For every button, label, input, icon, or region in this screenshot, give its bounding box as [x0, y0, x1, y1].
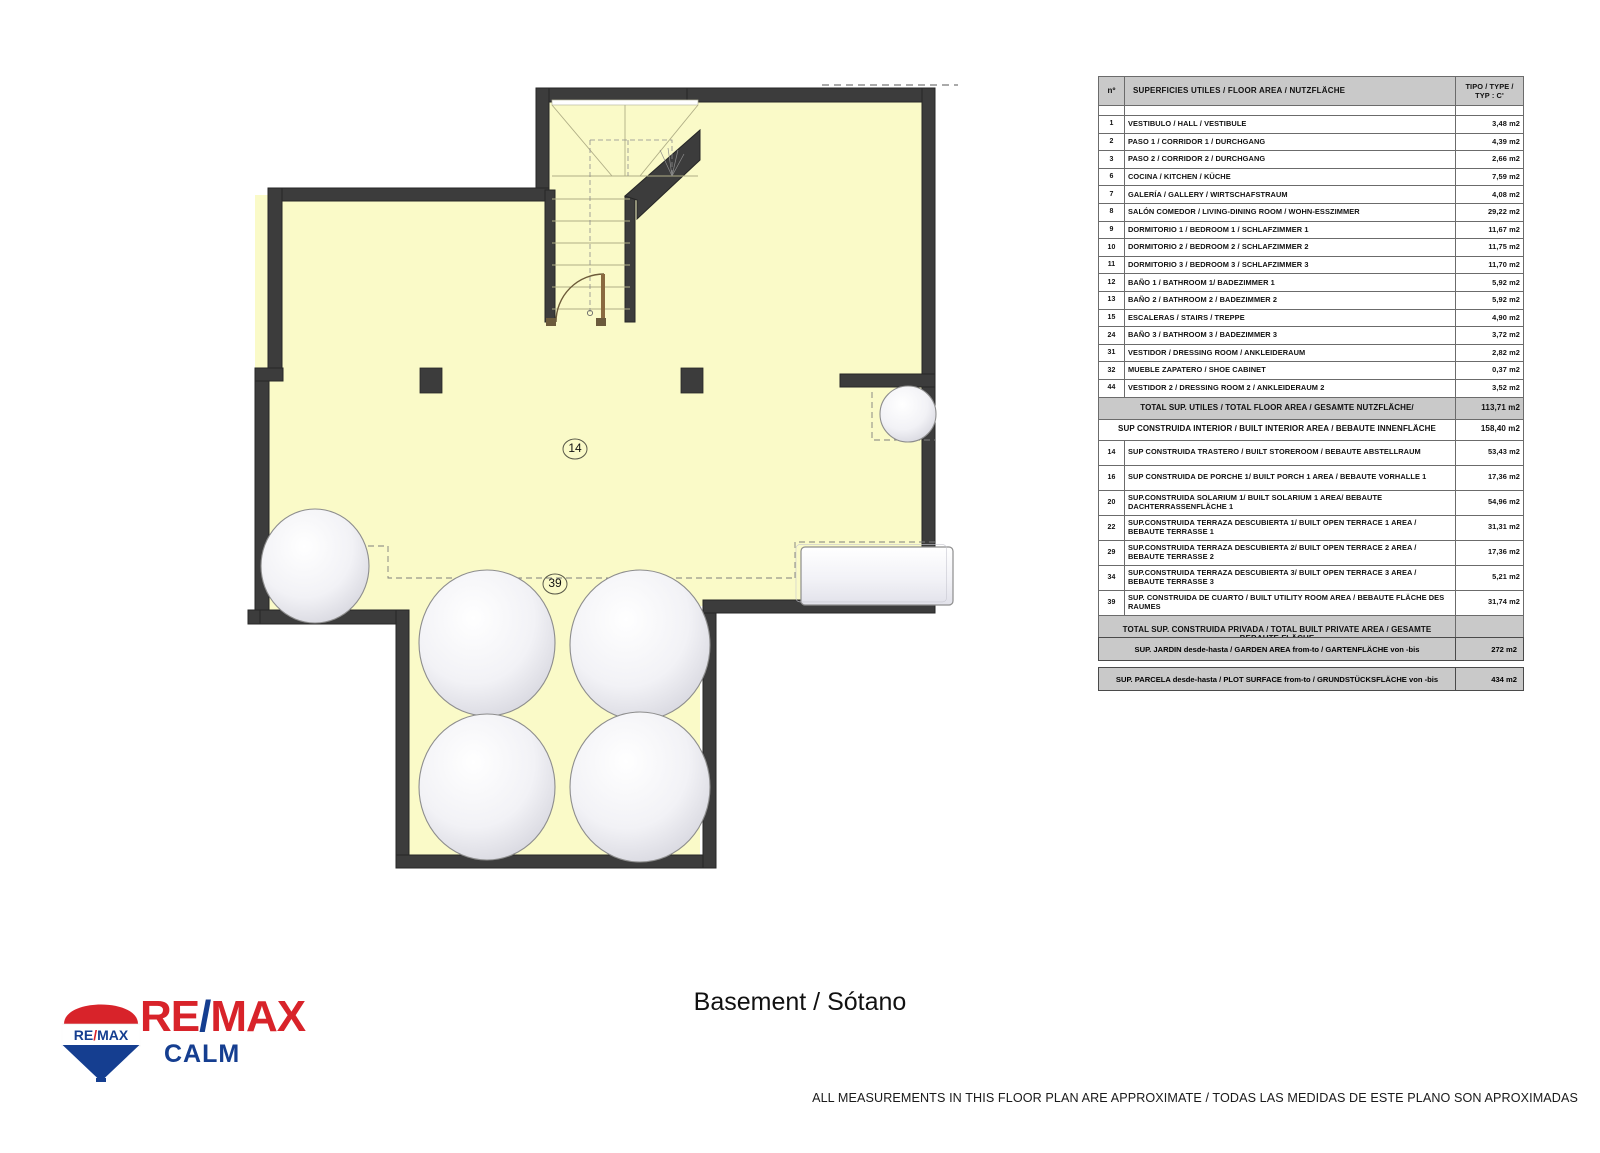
table-row: 10 DORMITORIO 2 / BEDROOM 2 / SCHLAFZIMM… — [1099, 239, 1524, 257]
disclaimer-text: ALL MEASUREMENTS IN THIS FLOOR PLAN ARE … — [812, 1091, 1578, 1105]
table-row: 3 PASO 2 / CORRIDOR 2 / DURCHGANG 2,66 m… — [1099, 151, 1524, 169]
built-interior-label: SUP CONSTRUIDA INTERIOR / BUILT INTERIOR… — [1099, 419, 1456, 440]
fixture-circle-39-a — [419, 570, 555, 716]
garden-label: SUP. JARDIN desde-hasta / GARDEN AREA fr… — [1099, 638, 1456, 661]
plot-area: 434 m2 — [1456, 668, 1524, 691]
row-num: 16 — [1099, 465, 1125, 490]
table-row: 24 BAÑO 3 / BATHROOM 3 / BADEZIMMER 3 3,… — [1099, 327, 1524, 345]
balloon-blue-bottom — [62, 1045, 140, 1082]
fixture-rect-right — [801, 547, 953, 605]
table-row: 2 PASO 1 / CORRIDOR 1 / DURCHGANG 4,39 m… — [1099, 133, 1524, 151]
row-num: 32 — [1099, 362, 1125, 380]
row-desc: BAÑO 3 / BATHROOM 3 / BADEZIMMER 3 — [1125, 327, 1456, 345]
plot-surface-row: SUP. PARCELA desde-hasta / PLOT SURFACE … — [1098, 667, 1524, 691]
room-tag-39-label: 39 — [540, 576, 570, 590]
total-useful-label: TOTAL SUP. UTILES / TOTAL FLOOR AREA / G… — [1099, 397, 1456, 419]
row-area: 3,52 m2 — [1456, 379, 1524, 397]
row-area: 11,75 m2 — [1456, 239, 1524, 257]
row-area: 53,43 m2 — [1456, 440, 1524, 465]
legend-spacer — [1099, 106, 1524, 116]
table-row: 39 SUP. CONSTRUIDA DE CUARTO / BUILT UTI… — [1099, 590, 1524, 615]
table-row: 15 ESCALERAS / STAIRS / TREPPE 4,90 m2 — [1099, 309, 1524, 327]
row-desc: SUP.CONSTRUIDA TERRAZA DESCUBIERTA 2/ BU… — [1125, 540, 1456, 565]
table-row: 11 DORMITORIO 3 / BEDROOM 3 / SCHLAFZIMM… — [1099, 256, 1524, 274]
row-area: 2,82 m2 — [1456, 344, 1524, 362]
row-num: 12 — [1099, 274, 1125, 292]
row-desc: SUP.CONSTRUIDA SOLARIUM 1/ BUILT SOLARIU… — [1125, 490, 1456, 515]
room-tag-14-label: 14 — [560, 441, 590, 455]
legend-header-desc: SUPERFICIES UTILES / FLOOR AREA / NUTZFL… — [1125, 77, 1456, 106]
row-num: 3 — [1099, 151, 1125, 169]
table-row: 12 BAÑO 1 / BATHROOM 1/ BADEZIMMER 1 5,9… — [1099, 274, 1524, 292]
row-area: 5,92 m2 — [1456, 274, 1524, 292]
row-desc: SALÓN COMEDOR / LIVING-DINING ROOM / WOH… — [1125, 203, 1456, 221]
legend-header-row: nº SUPERFICIES UTILES / FLOOR AREA / NUT… — [1099, 77, 1524, 106]
table-row: 20 SUP.CONSTRUIDA SOLARIUM 1/ BUILT SOLA… — [1099, 490, 1524, 515]
floor-area-legend-table: nº SUPERFICIES UTILES / FLOOR AREA / NUT… — [1098, 76, 1524, 656]
fixture-circle-left — [261, 509, 369, 623]
row-desc: VESTIDOR / DRESSING ROOM / ANKLEIDERAUM — [1125, 344, 1456, 362]
row-area: 5,21 m2 — [1456, 565, 1524, 590]
row-area: 11,70 m2 — [1456, 256, 1524, 274]
row-area: 4,39 m2 — [1456, 133, 1524, 151]
table-row: 34 SUP.CONSTRUIDA TERRAZA DESCUBIERTA 3/… — [1099, 565, 1524, 590]
row-num: 14 — [1099, 440, 1125, 465]
row-area: 29,22 m2 — [1456, 203, 1524, 221]
table-row: 14 SUP CONSTRUIDA TRASTERO / BUILT STORE… — [1099, 440, 1524, 465]
row-area: 3,48 m2 — [1456, 116, 1524, 134]
row-desc: COCINA / KITCHEN / KÜCHE — [1125, 168, 1456, 186]
row-num: 2 — [1099, 133, 1125, 151]
row-num: 31 — [1099, 344, 1125, 362]
row-area: 17,36 m2 — [1456, 465, 1524, 490]
row-desc: SUP CONSTRUIDA DE PORCHE 1/ BUILT PORCH … — [1125, 465, 1456, 490]
row-num: 20 — [1099, 490, 1125, 515]
table-row: 22 SUP.CONSTRUIDA TERRAZA DESCUBIERTA 1/… — [1099, 515, 1524, 540]
table-row: 31 VESTIDOR / DRESSING ROOM / ANKLEIDERA… — [1099, 344, 1524, 362]
row-num: 44 — [1099, 379, 1125, 397]
row-num: 15 — [1099, 309, 1125, 327]
row-area: 0,37 m2 — [1456, 362, 1524, 380]
legend-header-num: nº — [1099, 77, 1125, 106]
row-area: 4,90 m2 — [1456, 309, 1524, 327]
row-area: 31,74 m2 — [1456, 590, 1524, 615]
row-area: 7,59 m2 — [1456, 168, 1524, 186]
built-interior-row: SUP CONSTRUIDA INTERIOR / BUILT INTERIOR… — [1099, 419, 1524, 440]
balloon-logo-text: RE/MAX — [74, 1027, 129, 1043]
row-num: 1 — [1099, 116, 1125, 134]
row-desc: SUP.CONSTRUIDA TERRAZA DESCUBIERTA 3/ BU… — [1125, 565, 1456, 590]
row-desc: VESTIBULO / HALL / VESTIBULE — [1125, 116, 1456, 134]
row-num: 9 — [1099, 221, 1125, 239]
room-tag-39: 39 — [540, 573, 570, 598]
page-title: Basement / Sótano — [0, 988, 1600, 1017]
row-num: 39 — [1099, 590, 1125, 615]
row-num: 34 — [1099, 565, 1125, 590]
table-row: 16 SUP CONSTRUIDA DE PORCHE 1/ BUILT POR… — [1099, 465, 1524, 490]
fixture-circle-39-b — [570, 570, 710, 720]
row-desc: DORMITORIO 3 / BEDROOM 3 / SCHLAFZIMMER … — [1125, 256, 1456, 274]
row-desc: SUP.CONSTRUIDA TERRAZA DESCUBIERTA 1/ BU… — [1125, 515, 1456, 540]
row-area: 11,67 m2 — [1456, 221, 1524, 239]
fixture-circle-39-c — [419, 714, 555, 860]
row-desc: SUP. CONSTRUIDA DE CUARTO / BUILT UTILIT… — [1125, 590, 1456, 615]
row-area: 54,96 m2 — [1456, 490, 1524, 515]
table-row: 29 SUP.CONSTRUIDA TERRAZA DESCUBIERTA 2/… — [1099, 540, 1524, 565]
row-desc: VESTIDOR 2 / DRESSING ROOM 2 / ANKLEIDER… — [1125, 379, 1456, 397]
legend-table: nº SUPERFICIES UTILES / FLOOR AREA / NUT… — [1098, 76, 1524, 656]
garden-area-row: SUP. JARDIN desde-hasta / GARDEN AREA fr… — [1098, 637, 1524, 661]
floor-plan-drawing — [0, 0, 1060, 950]
row-num: 10 — [1099, 239, 1125, 257]
row-num: 8 — [1099, 203, 1125, 221]
garden-area: 272 m2 — [1456, 638, 1524, 661]
row-num: 6 — [1099, 168, 1125, 186]
row-area: 4,08 m2 — [1456, 186, 1524, 204]
built-interior-area: 158,40 m2 — [1456, 419, 1524, 440]
row-area: 31,31 m2 — [1456, 515, 1524, 540]
row-area: 2,66 m2 — [1456, 151, 1524, 169]
table-row: 8 SALÓN COMEDOR / LIVING-DINING ROOM / W… — [1099, 203, 1524, 221]
row-num: 13 — [1099, 291, 1125, 309]
table-row: 44 VESTIDOR 2 / DRESSING ROOM 2 / ANKLEI… — [1099, 379, 1524, 397]
row-num: 24 — [1099, 327, 1125, 345]
plot-label: SUP. PARCELA desde-hasta / PLOT SURFACE … — [1099, 668, 1456, 691]
row-desc: MUEBLE ZAPATERO / SHOE CABINET — [1125, 362, 1456, 380]
fixture-circle-top-right — [880, 386, 936, 442]
row-num: 29 — [1099, 540, 1125, 565]
table-row: 6 COCINA / KITCHEN / KÜCHE 7,59 m2 — [1099, 168, 1524, 186]
row-desc: BAÑO 2 / BATHROOM 2 / BADEZIMMER 2 — [1125, 291, 1456, 309]
legend-header-type: TIPO / TYPE / TYP : C' — [1456, 77, 1524, 106]
table-row: 9 DORMITORIO 1 / BEDROOM 1 / SCHLAFZIMME… — [1099, 221, 1524, 239]
table-row: 7 GALERÍA / GALLERY / WIRTSCHAFSTRAUM 4,… — [1099, 186, 1524, 204]
row-desc: SUP CONSTRUIDA TRASTERO / BUILT STOREROO… — [1125, 440, 1456, 465]
row-desc: BAÑO 1 / BATHROOM 1/ BADEZIMMER 1 — [1125, 274, 1456, 292]
fixture-circle-39-d — [570, 712, 710, 862]
row-desc: PASO 2 / CORRIDOR 2 / DURCHGANG — [1125, 151, 1456, 169]
room-tag-14: 14 — [560, 438, 590, 463]
table-row: 13 BAÑO 2 / BATHROOM 2 / BADEZIMMER 2 5,… — [1099, 291, 1524, 309]
total-useful-row: TOTAL SUP. UTILES / TOTAL FLOOR AREA / G… — [1099, 397, 1524, 419]
row-desc: DORMITORIO 2 / BEDROOM 2 / SCHLAFZIMMER … — [1125, 239, 1456, 257]
row-area: 17,36 m2 — [1456, 540, 1524, 565]
table-row: 32 MUEBLE ZAPATERO / SHOE CABINET 0,37 m… — [1099, 362, 1524, 380]
row-num: 22 — [1099, 515, 1125, 540]
row-num: 7 — [1099, 186, 1125, 204]
row-desc: DORMITORIO 1 / BEDROOM 1 / SCHLAFZIMMER … — [1125, 221, 1456, 239]
office-name: CALM — [164, 1042, 305, 1067]
row-area: 3,72 m2 — [1456, 327, 1524, 345]
row-desc: ESCALERAS / STAIRS / TREPPE — [1125, 309, 1456, 327]
total-useful-area: 113,71 m2 — [1456, 397, 1524, 419]
row-num: 11 — [1099, 256, 1125, 274]
row-area: 5,92 m2 — [1456, 291, 1524, 309]
row-desc: PASO 1 / CORRIDOR 1 / DURCHGANG — [1125, 133, 1456, 151]
row-desc: GALERÍA / GALLERY / WIRTSCHAFSTRAUM — [1125, 186, 1456, 204]
table-row: 1 VESTIBULO / HALL / VESTIBULE 3,48 m2 — [1099, 116, 1524, 134]
